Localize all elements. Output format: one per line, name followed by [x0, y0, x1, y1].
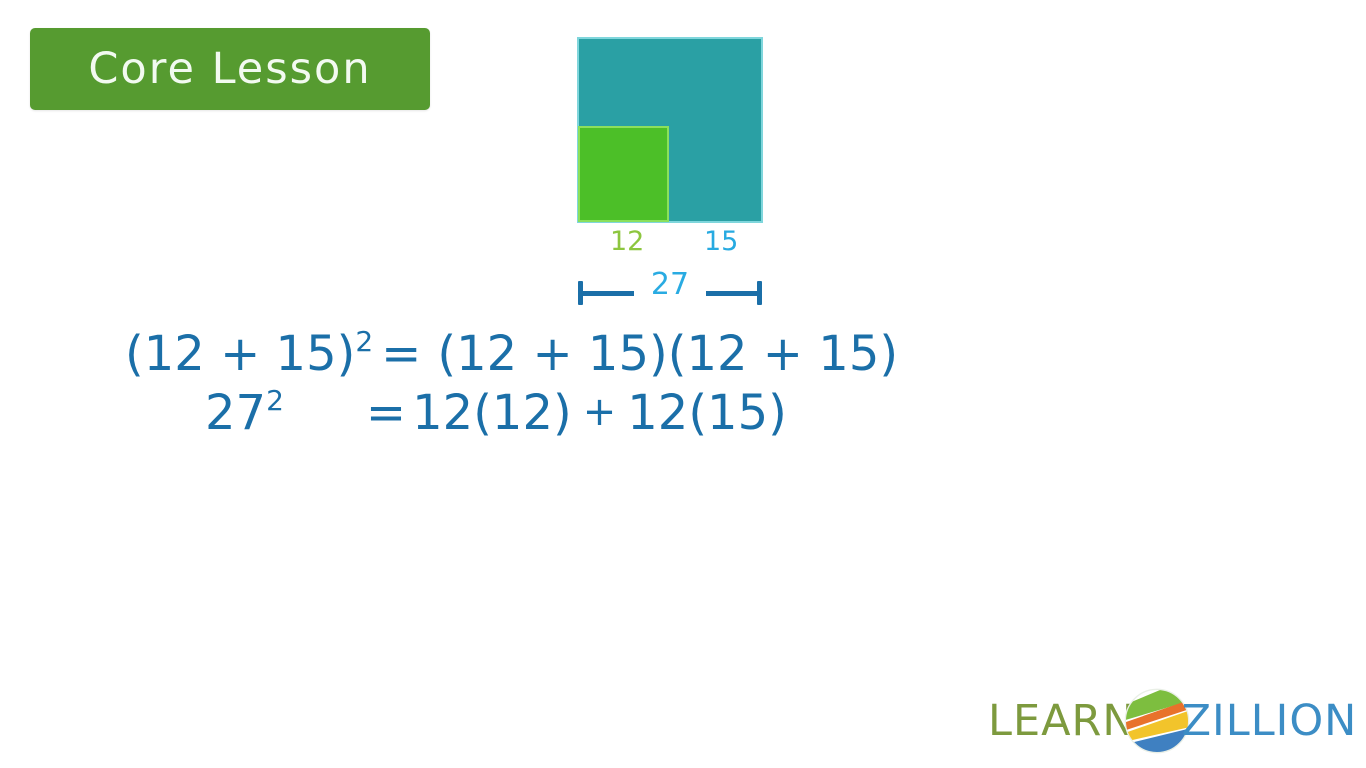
slide-canvas: Core Lesson 12 15 27 (12 + 15)2 = (12 + …	[0, 0, 1366, 768]
eq2-term-2: 12(15)	[627, 384, 787, 443]
eq2-lhs-exponent: 2	[266, 384, 286, 418]
equation-line-2: 272 = 12(12) + 12(15)	[125, 384, 898, 443]
globe-icon	[1124, 688, 1190, 754]
logo-word-learn: LEARN	[988, 700, 1136, 743]
eq1-lhs-exponent: 2	[355, 325, 375, 359]
bracket-right-cap	[757, 281, 762, 305]
equation-block: (12 + 15)2 = (12 + 15) (12 + 15) 272 = 1…	[125, 325, 898, 442]
eq2-equals-sign: =	[360, 384, 412, 443]
eq1-rhs-factor-2: (12 + 15)	[668, 325, 898, 384]
eq2-term-1: 12(12)	[412, 384, 572, 443]
logo-word-zillion: ZILLION	[1182, 700, 1358, 743]
bracket-left-line	[582, 291, 634, 296]
core-lesson-banner: Core Lesson	[30, 28, 430, 110]
core-lesson-label: Core Lesson	[88, 44, 371, 94]
eq1-lhs-base: (12 + 15)	[125, 325, 355, 384]
segment-label-15: 15	[704, 228, 738, 255]
learnzillion-logo: LEARN ZILLION	[988, 690, 1357, 752]
eq2-plus-sign: +	[572, 388, 628, 437]
small-square-shape	[578, 126, 669, 222]
bracket-right-line	[706, 291, 758, 296]
area-model-diagram	[577, 37, 763, 223]
eq2-lhs-base: 27	[205, 384, 266, 443]
eq1-rhs-factor-1: (12 + 15)	[437, 325, 667, 384]
segment-label-12: 12	[610, 228, 644, 255]
total-width-bracket: 27	[578, 275, 762, 309]
eq1-equals-sign: =	[375, 325, 427, 384]
total-label-27: 27	[635, 270, 705, 300]
equation-line-1: (12 + 15)2 = (12 + 15) (12 + 15)	[125, 325, 898, 384]
